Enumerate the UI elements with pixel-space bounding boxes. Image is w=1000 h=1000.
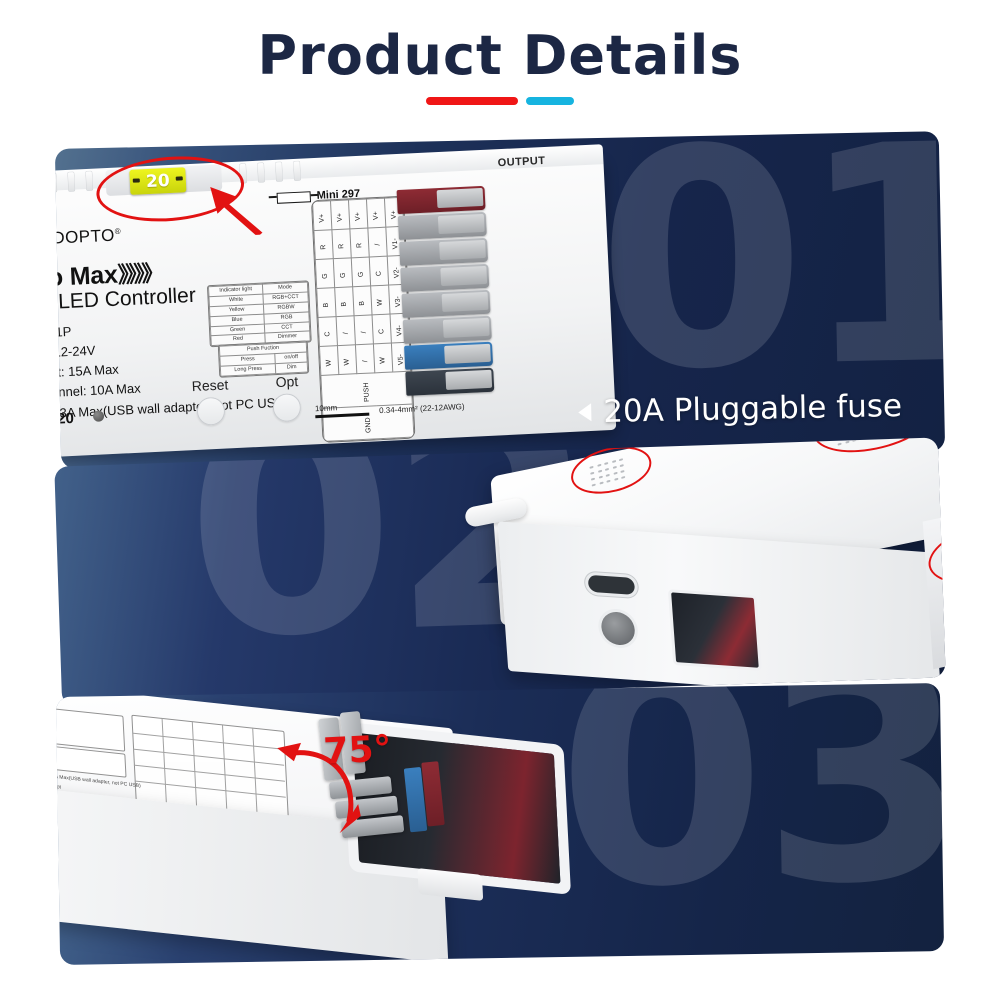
wiring-table-cell: R <box>332 229 351 259</box>
wiring-cell-label: / <box>362 360 369 362</box>
output-label: OUTPUT <box>497 155 545 169</box>
wiring-footer-label: GND <box>364 417 372 433</box>
wiring-cell-label: C <box>375 271 382 276</box>
controller-photo-wago-terminals: V, 3A Max(USB wall adapter, not PC USB) … <box>56 686 576 965</box>
wiring-table-cell: W <box>337 345 356 375</box>
wiring-table-cell: V+ <box>348 199 367 229</box>
chevron-icon: 》》》》 <box>117 261 161 288</box>
output-connector-gray <box>399 238 488 266</box>
panel-01-caption: 20A Pluggable fuse <box>578 388 902 430</box>
wiring-table-cell: V+ <box>330 200 349 230</box>
connector-lever <box>442 292 489 312</box>
heat-fin <box>85 171 93 191</box>
wiring-table-cell: R <box>314 230 333 260</box>
scale-10mm: 10mm <box>315 402 370 419</box>
wiring-table-cell: W <box>319 346 338 376</box>
push-function-table: Push FuctionPresson/offLong PressDim <box>218 341 309 378</box>
controller-photo-heat-holes <box>447 437 945 706</box>
connector-lever <box>445 370 492 390</box>
wiring-table-cell: B <box>353 286 372 316</box>
wiring-table-cell: B <box>335 287 354 317</box>
connector-lever <box>443 318 490 338</box>
wiring-cell-label: / <box>360 331 367 333</box>
wire-gauge-label: 0.34-4mm² (22-12AWG) <box>379 402 465 415</box>
panel-03-content: 03 V, 3A Max(USB wall adapter, not PC US… <box>56 683 944 965</box>
wiring-cell-label: B <box>359 301 366 306</box>
opt-button-label: Opt <box>275 373 298 390</box>
output-connector-dark <box>405 368 494 396</box>
angle-label: 75° <box>322 728 392 772</box>
panel-03-watermark-number: 03 <box>555 683 944 897</box>
feature-panel-03: 03 V, 3A Max(USB wall adapter, not PC US… <box>56 683 944 965</box>
connector-lever <box>439 240 486 260</box>
output-connector-blue <box>404 342 493 370</box>
connector-lever <box>440 266 487 286</box>
wiring-cell-label: V+ <box>355 212 362 221</box>
wiring-cell-label: B <box>323 303 330 308</box>
wiring-cell-label: W <box>344 359 351 366</box>
scale-label: 10mm <box>315 403 338 413</box>
brand-name: EDOPTO <box>55 226 115 249</box>
fuse-symbol-icon <box>277 191 311 204</box>
feature-panel-01: 01 OUTPUT 20 <box>55 131 945 469</box>
output-connector-stack <box>397 186 495 398</box>
connector-lever <box>438 214 485 234</box>
wiring-cell-label: V+ <box>337 213 344 222</box>
wiring-table-row: C//CV4- <box>318 313 409 346</box>
wiring-table-cell: W <box>373 343 392 373</box>
heat-fin <box>275 162 283 182</box>
wiring-cell-label: B <box>341 302 348 307</box>
wiring-cell-label: R <box>356 243 363 248</box>
output-connector-gray <box>403 316 492 344</box>
wiring-footer-label: PUSH <box>363 382 371 402</box>
wiring-cell-label: C <box>324 331 331 336</box>
wiring-table-cell: / <box>368 227 387 257</box>
heat-fin <box>293 161 301 181</box>
feature-panel-02: 02 Exc <box>54 437 945 706</box>
wiring-table-cell: W <box>371 285 390 315</box>
wiring-table-row: GGGCV2- <box>315 255 406 288</box>
page-header: Product Details <box>0 28 1000 105</box>
wiring-table-cell: / <box>355 344 374 374</box>
wiring-cell-label: W <box>377 299 384 306</box>
wiring-table-row: V+V+V+V+V+ <box>313 197 404 230</box>
panel-01-content: 01 OUTPUT 20 <box>55 131 945 469</box>
fuse-pointer-arrow <box>190 180 267 237</box>
wiring-table-cell: / <box>354 315 373 345</box>
push-table-cell: Long Press <box>220 363 276 376</box>
controller-photo-top-view: OUTPUT 20 Mini 297 EDOPTO® ro Max》》》》 <box>55 158 616 457</box>
wiring-table-cell: G <box>333 258 352 288</box>
wiring-cell-label: W <box>380 357 387 364</box>
wiring-cell-label: G <box>357 271 364 277</box>
brand-registered-mark: ® <box>114 227 121 236</box>
connector-lever <box>437 188 484 208</box>
wiring-cell-label: / <box>342 332 349 334</box>
ip-rating-label: P20 <box>55 410 74 428</box>
wiring-table-cell: B <box>317 288 336 318</box>
triangle-left-icon <box>578 403 591 421</box>
underline-cyan-bar <box>526 97 574 105</box>
wiring-table-cell: C <box>372 314 391 344</box>
output-connector-gray <box>400 264 489 292</box>
label-table-indicator <box>56 707 125 751</box>
wiring-table-row: WW/WV5- <box>319 342 410 375</box>
wiring-cell-label: V+ <box>319 214 326 223</box>
label-usb-note: V, 3A Max(USB wall adapter, not PC USB) <box>56 773 141 789</box>
panel-02-content: 02 Exc <box>54 437 945 706</box>
heat-fin <box>67 172 75 192</box>
wiring-table-cell: G <box>315 259 334 289</box>
wiring-table-row: RRR/V1- <box>314 226 405 259</box>
wiring-cell-label: V+ <box>373 211 380 220</box>
push-table-cell: Dim <box>276 362 308 373</box>
usb-c-port-icon <box>588 575 636 595</box>
wiring-table-cell: G <box>351 257 370 287</box>
output-connector-gray <box>398 212 487 240</box>
wiring-table-cell: V+ <box>366 198 385 228</box>
product-details-page: Product Details 01 OUTPUT <box>0 0 1000 1000</box>
wiring-table-cell: R <box>350 228 369 258</box>
brand-text: EDOPTO® <box>55 225 122 249</box>
wiring-cell-label: G <box>339 272 346 278</box>
page-title: Product Details <box>0 28 1000 85</box>
device-subtitle: rt LED Controller <box>55 284 196 315</box>
reset-button[interactable] <box>196 397 225 426</box>
internal-components-window <box>671 592 759 667</box>
wiring-cell-label: R <box>320 244 327 249</box>
wiring-table-cell: C <box>369 256 388 286</box>
wiring-table-row: BBBWV3- <box>317 284 408 317</box>
underline-red-bar <box>426 97 518 105</box>
indicator-light-table: Indicator lightModeWhiteRGB+CCTYellowRGB… <box>207 280 312 347</box>
wiring-cell-label: W <box>326 360 333 367</box>
wiring-cell-label: G <box>321 273 328 279</box>
panel-01-watermark-number: 01 <box>595 138 945 380</box>
wiring-table-cell: C <box>318 317 337 347</box>
wiring-table-cell: / <box>336 316 355 346</box>
wiring-cell-label: C <box>378 329 385 334</box>
wiring-cell-label: R <box>338 244 345 249</box>
output-connector-red <box>397 186 486 214</box>
reset-button-label: Reset <box>191 376 228 394</box>
title-underline <box>0 97 1000 105</box>
wiring-cell-label: / <box>374 243 381 245</box>
panel-01-caption-text: 20A Pluggable fuse <box>603 388 902 430</box>
connector-lever <box>444 344 491 364</box>
output-connector-gray <box>402 290 491 318</box>
opt-button[interactable] <box>272 393 301 422</box>
wiring-table-cell: V+ <box>313 201 332 231</box>
